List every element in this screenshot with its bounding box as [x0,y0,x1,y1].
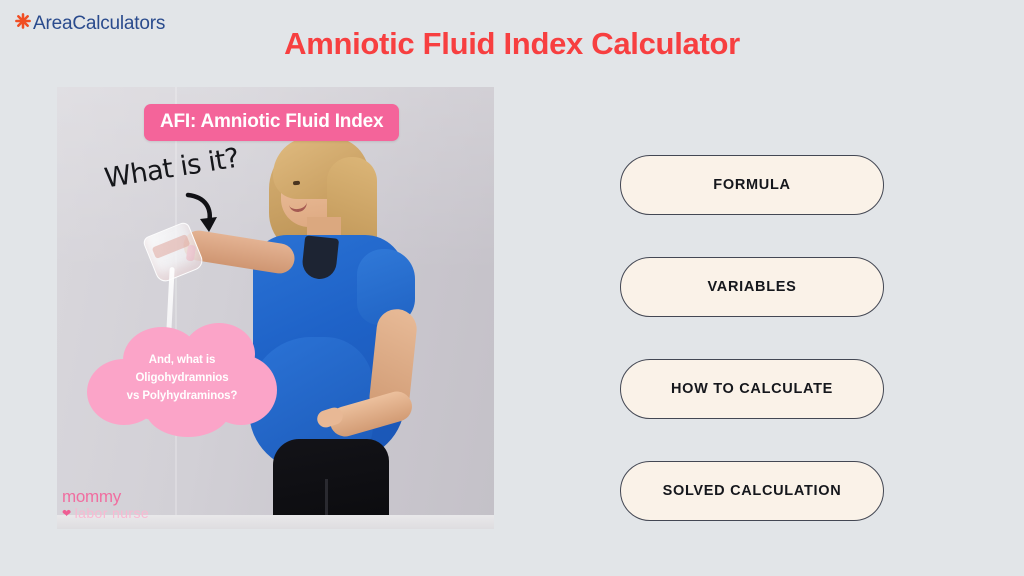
how-to-calculate-button[interactable]: HOW TO CALCULATE [620,359,884,419]
cloud-text: And, what is Oligohydramnios vs Polyhydr… [87,351,277,405]
heart-icon: ❤ [62,507,72,520]
cloud-callout: And, what is Oligohydramnios vs Polyhydr… [87,323,277,439]
afi-banner: AFI: Amniotic Fluid Index [144,104,399,141]
cloud-text-line: And, what is [87,351,277,369]
cup-liquid [152,234,191,259]
nav-button-column: FORMULA VARIABLES HOW TO CALCULATE SOLVE… [620,155,884,521]
watermark-line-2: labor nurse [75,505,149,521]
watermark-line-2-wrap: ❤ labor nurse [62,505,212,521]
cloud-text-line: Oligohydramnios [87,369,277,387]
solved-calculation-button[interactable]: SOLVED CALCULATION [620,461,884,521]
variables-button[interactable]: VARIABLES [620,257,884,317]
cloud-text-line: vs Polyhydraminos? [87,387,277,405]
page-title: Amniotic Fluid Index Calculator [0,26,1024,62]
watermark-line-1: mommy [62,487,212,507]
watermark: mommy ❤ labor nurse [62,487,212,521]
curved-down-arrow-icon [180,191,226,237]
illustration-image: And, what is Oligohydramnios vs Polyhydr… [57,87,494,529]
formula-button[interactable]: FORMULA [620,155,884,215]
pregnant-woman-figure [57,87,494,529]
